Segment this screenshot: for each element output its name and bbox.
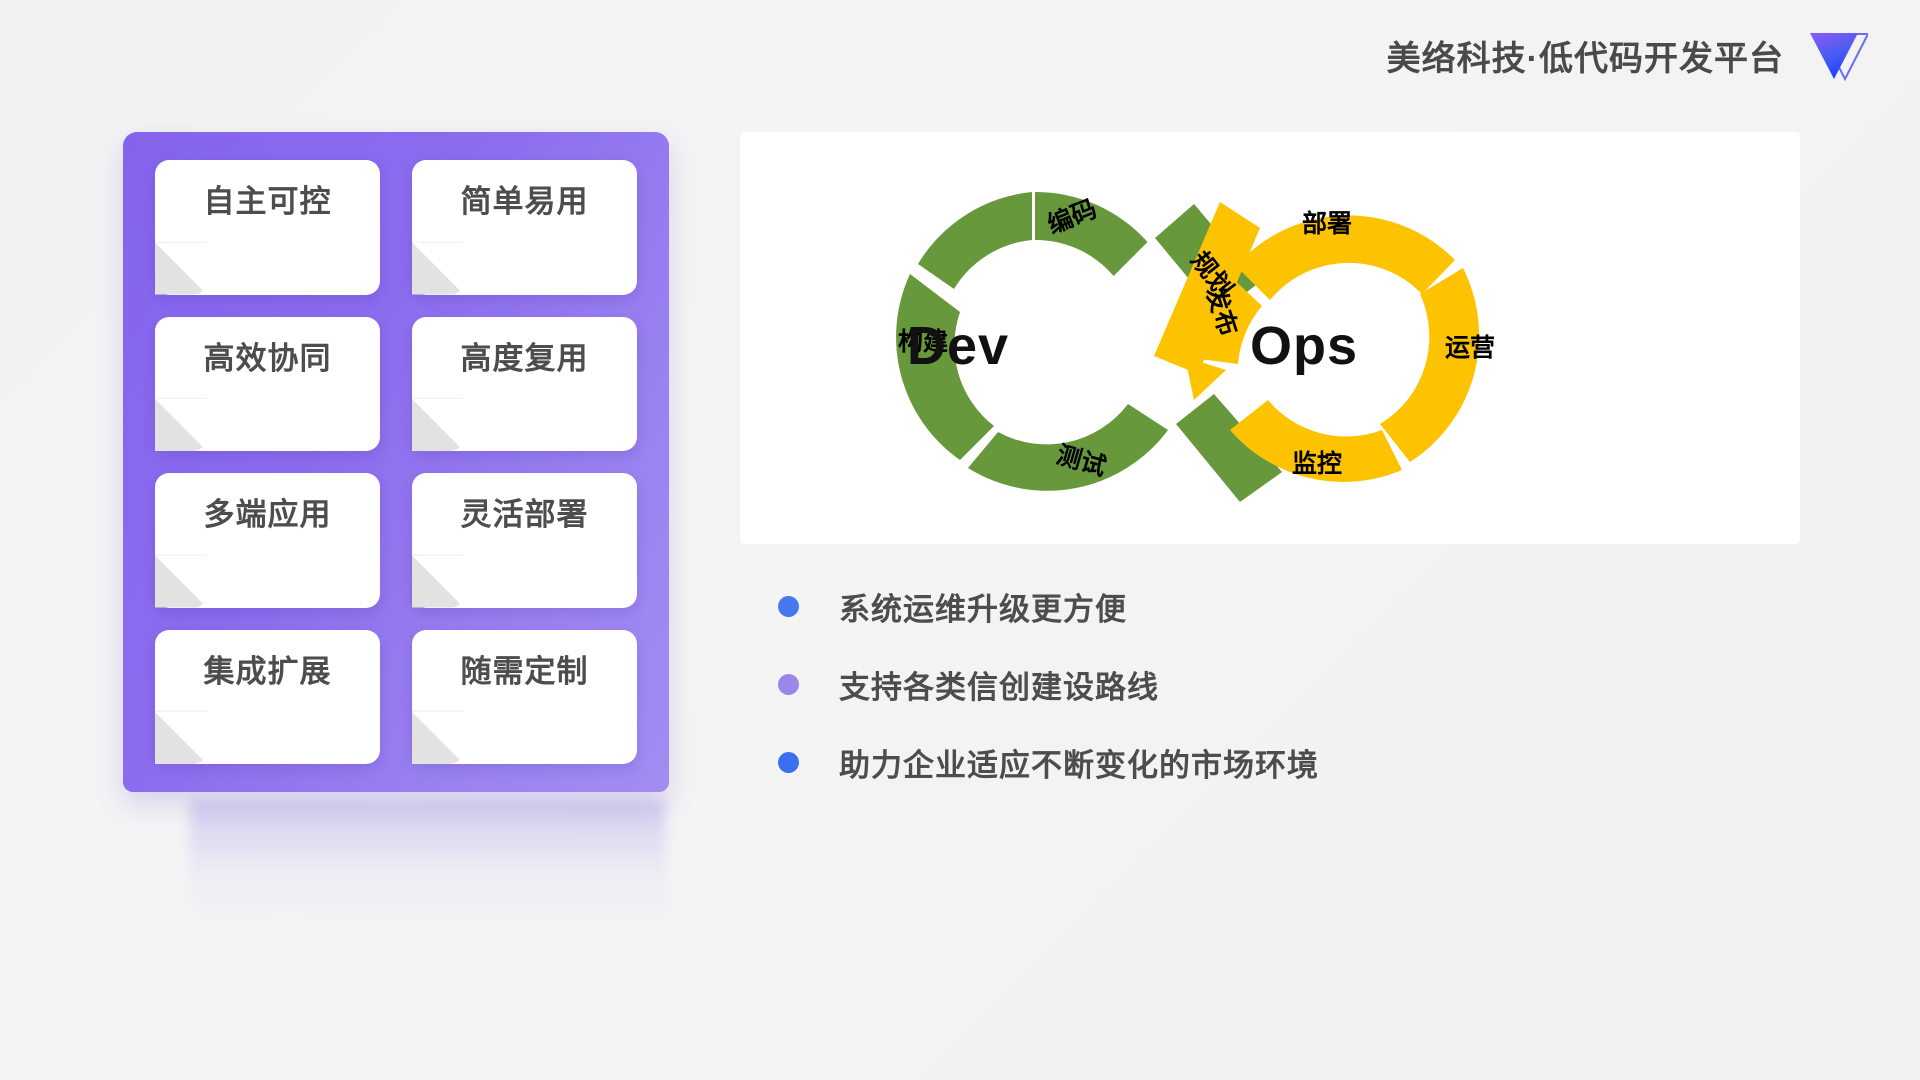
feature-card-label: 随需定制 — [461, 656, 589, 687]
page-fold-icon — [155, 556, 207, 608]
page-fold-icon — [412, 712, 464, 764]
feature-grid-panel: 自主可控 简单易用 高效协同 高度复用 多端应用 灵活部署 集成 — [123, 132, 669, 792]
page-fold-icon — [412, 556, 464, 608]
benefit-label: 助力企业适应不断变化的市场环境 — [839, 740, 1319, 785]
list-item: 系统运维升级更方便 — [770, 567, 1770, 645]
devops-infinity-diagram: 编码 构建 测试 规划 部署 运营 监控 发布 Dev Ops 系统运维升级更方… — [740, 132, 1800, 544]
feature-card[interactable]: 集成扩展 — [155, 630, 380, 765]
dev-segment-coding-left — [918, 192, 1032, 289]
page-fold-icon — [412, 243, 464, 295]
feature-card-label: 自主可控 — [204, 186, 332, 217]
benefit-list: 系统运维升级更方便 支持各类信创建设路线 助力企业适应不断变化的市场环境 — [770, 567, 1770, 801]
feature-card[interactable]: 自主可控 — [155, 160, 380, 295]
page-fold-icon — [155, 243, 207, 295]
feature-card[interactable]: 灵活部署 — [412, 473, 637, 608]
dev-center-label: Dev — [907, 315, 1009, 377]
feature-card[interactable]: 高度复用 — [412, 317, 637, 452]
benefit-label: 系统运维升级更方便 — [839, 584, 1127, 629]
release-arrow-icon — [1185, 357, 1226, 400]
feature-card[interactable]: 简单易用 — [412, 160, 637, 295]
bullet-dot-icon — [778, 674, 799, 695]
feature-card-label: 高效协同 — [204, 343, 332, 374]
feature-card[interactable]: 随需定制 — [412, 630, 637, 765]
list-item: 助力企业适应不断变化的市场环境 — [770, 723, 1770, 801]
feature-card-label: 简单易用 — [461, 186, 589, 217]
feature-card-label: 多端应用 — [204, 499, 332, 530]
feature-card-label: 集成扩展 — [204, 656, 332, 687]
list-item: 支持各类信创建设路线 — [770, 645, 1770, 723]
ops-segment-label: 运营 — [1445, 334, 1495, 362]
benefit-label: 支持各类信创建设路线 — [839, 662, 1159, 707]
left-panel-reflection — [190, 800, 665, 925]
feature-card-label: 灵活部署 — [461, 499, 589, 530]
ops-segment-label: 部署 — [1302, 209, 1352, 238]
ops-center-label: Ops — [1250, 315, 1358, 377]
feature-card-label: 高度复用 — [461, 343, 589, 374]
right-column: 编码 构建 测试 规划 部署 运营 监控 发布 Dev Ops 系统运维升级更方… — [740, 132, 1860, 544]
brand-logo — [1806, 27, 1868, 83]
page-title: 美络科技·低代码开发平台 — [1387, 31, 1784, 80]
ops-segment-label: 监控 — [1292, 450, 1342, 478]
page-fold-icon — [155, 399, 207, 451]
bullet-dot-icon — [778, 752, 799, 773]
page-fold-icon — [412, 399, 464, 451]
bullet-dot-icon — [778, 596, 799, 617]
feature-card[interactable]: 多端应用 — [155, 473, 380, 608]
triangle-logo-icon — [1806, 27, 1868, 83]
page-fold-icon — [155, 712, 207, 764]
feature-card[interactable]: 高效协同 — [155, 317, 380, 452]
ops-segment-operate — [1380, 268, 1479, 462]
page-header: 美络科技·低代码开发平台 — [1387, 0, 1920, 110]
